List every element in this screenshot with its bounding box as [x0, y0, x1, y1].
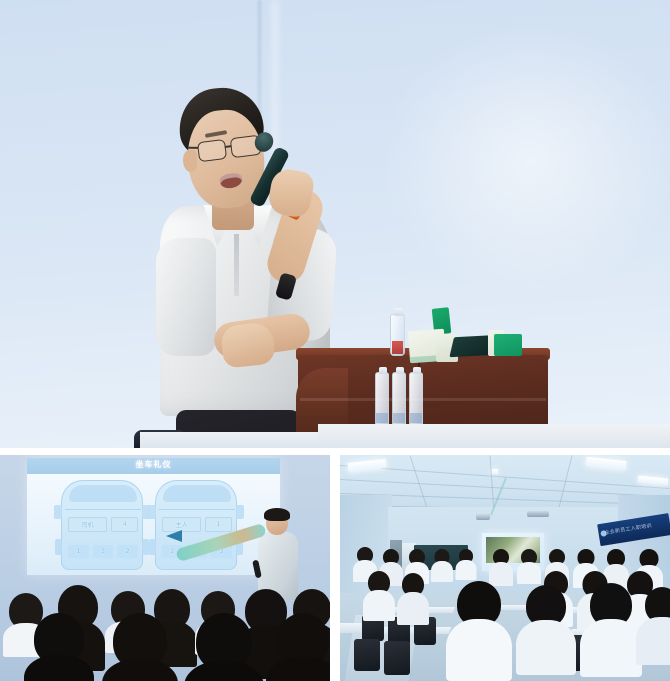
seat-front-passenger: 4 — [111, 517, 138, 532]
horizontal-gutter — [0, 448, 670, 455]
student — [432, 549, 452, 581]
shirt-placket — [234, 234, 239, 296]
ceiling-light — [348, 459, 387, 472]
student-shirt — [431, 561, 453, 582]
panel-speaker-at-podium — [0, 0, 670, 448]
car-diagram-left: 司机 4 1 3 2 — [61, 480, 143, 570]
chair — [354, 639, 380, 671]
student — [104, 613, 176, 681]
car-divider-line — [159, 509, 235, 510]
student-shirt — [446, 619, 512, 681]
ear — [183, 150, 197, 172]
vertical-gutter — [330, 455, 340, 681]
chair — [384, 641, 410, 675]
ceiling-projector-icon — [476, 513, 490, 520]
car-front-row: 主人 1 — [162, 517, 232, 532]
student-shirt — [516, 620, 576, 675]
lens-left — [197, 139, 227, 162]
car-mirror-left — [54, 505, 62, 519]
car-mirror-right — [236, 505, 244, 519]
ceiling-light — [638, 475, 669, 485]
student — [456, 549, 476, 579]
slide-body: 司机 4 1 3 2 — [27, 474, 280, 575]
bottle-label — [392, 341, 403, 354]
car-wheel-left — [149, 539, 156, 555]
car-wheel-left — [55, 539, 62, 555]
seat-rear-3: 2 — [117, 545, 138, 558]
panel-lecture-hall: 企业新员工入职培训 — [340, 455, 670, 681]
student-shirt — [363, 590, 395, 621]
student-shirt — [580, 619, 642, 677]
banner-text: 企业新员工入职培训 — [604, 520, 667, 537]
seat-front-passenger: 1 — [205, 517, 232, 532]
glasses-temple — [189, 147, 199, 149]
air-conditioner-vent — [527, 511, 549, 517]
student-shirt — [456, 560, 477, 580]
presenter-hair — [264, 508, 290, 521]
podium-trim — [300, 398, 546, 401]
car-windshield — [163, 485, 231, 502]
car-mirror-left — [148, 505, 156, 519]
student — [364, 571, 394, 619]
student — [518, 585, 574, 671]
student — [490, 549, 512, 585]
student-hair-long — [102, 659, 178, 681]
front-desk-left — [140, 432, 320, 448]
seat-host: 主人 — [162, 517, 201, 532]
clasped-hand — [220, 321, 276, 368]
projection-screen: 坐车礼仪 司机 4 1 3 2 — [27, 458, 280, 575]
car-divider-line — [65, 509, 141, 510]
car-windshield — [69, 485, 137, 502]
student — [186, 613, 262, 681]
panel-classroom-slide: 坐车礼仪 司机 4 1 3 2 — [0, 455, 330, 681]
student-hair-long — [266, 657, 330, 681]
student — [398, 573, 428, 623]
student-hair-long — [184, 661, 264, 681]
left-sleeve — [156, 238, 216, 356]
slide-title: 坐车礼仪 — [27, 459, 280, 470]
car-back-row: 1 3 2 — [66, 543, 140, 560]
student-shirt — [517, 562, 541, 584]
front-desk-right — [318, 424, 670, 448]
student — [448, 581, 510, 677]
car-front-row: 司机 4 — [68, 517, 138, 532]
car-wheel-right — [142, 539, 149, 555]
student — [268, 613, 330, 681]
ceiling-light-small — [492, 469, 498, 474]
student-shirt — [397, 592, 429, 625]
student — [26, 613, 92, 681]
ceiling-light — [586, 457, 627, 470]
seat-driver: 司机 — [68, 517, 107, 532]
wall-light-glow — [380, 20, 670, 300]
student-hair-long — [24, 655, 94, 681]
student-shirt — [636, 617, 670, 665]
student — [518, 549, 540, 583]
green-product-box-2 — [494, 334, 522, 356]
seat-rear-2: 3 — [93, 545, 114, 558]
student — [638, 587, 670, 663]
student — [582, 583, 640, 675]
photo-collage: 坐车礼仪 司机 4 1 3 2 — [0, 0, 670, 681]
seat-rear-1: 1 — [68, 545, 89, 558]
